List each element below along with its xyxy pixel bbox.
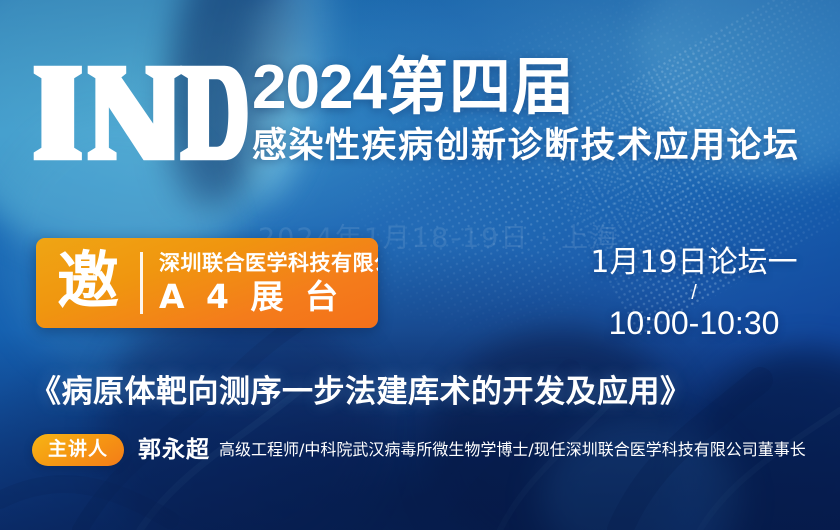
session-info: 1月19日论坛一 / 10:00-10:30 <box>560 244 828 342</box>
ind-logo-icon <box>26 60 248 166</box>
speaker-name: 郭永超 <box>138 436 210 464</box>
event-title-main: 2024第四届 <box>252 52 832 123</box>
poster-header: 2024第四届 感染性疾病创新诊断技术应用论坛 <box>0 52 840 202</box>
session-time-range: 10:00-10:30 <box>560 304 828 342</box>
badge-divider <box>140 252 143 314</box>
event-year: 2024 <box>252 53 386 122</box>
talk-title: 《病原体靶向测序一步法建库术的开发及应用》 <box>30 372 692 412</box>
invitation-badge: 邀 深圳联合医学科技有限公司 A 4 展 台 <box>36 238 378 328</box>
speaker-row: 主讲人 郭永超 高级工程师/中科院武汉病毒所微生物学博士/现任深圳联合医学科技有… <box>32 434 806 466</box>
invite-character: 邀 <box>36 250 140 316</box>
speaker-credentials: 高级工程师/中科院武汉病毒所微生物学博士/现任深圳联合医学科技有限公司董事长 <box>219 437 806 463</box>
conference-invitation-poster: 2024第四届 感染性疾病创新诊断技术应用论坛 2024年1月18-19日 · … <box>0 0 840 530</box>
event-subtitle: 感染性疾病创新诊断技术应用论坛 <box>252 125 832 167</box>
session-forum-label: 1月19日论坛一 <box>560 244 828 282</box>
booth-number: A 4 展 台 <box>159 278 378 316</box>
event-title-block: 2024第四届 感染性疾病创新诊断技术应用论坛 <box>252 52 832 167</box>
speaker-label-pill: 主讲人 <box>32 434 124 466</box>
event-edition: 第四届 <box>386 50 575 123</box>
company-name: 深圳联合医学科技有限公司 <box>159 250 378 276</box>
session-separator: / <box>560 283 828 303</box>
invite-badge-text: 深圳联合医学科技有限公司 A 4 展 台 <box>159 250 378 316</box>
